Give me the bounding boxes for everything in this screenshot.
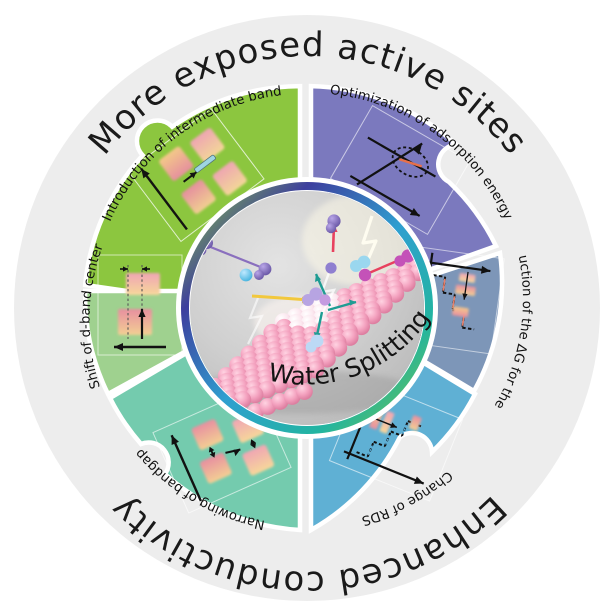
water-splitting-strategy-wheel: More exposed active sites Enhanced condu…: [0, 0, 615, 613]
figure-canvas: More exposed active sites Enhanced condu…: [0, 0, 615, 613]
